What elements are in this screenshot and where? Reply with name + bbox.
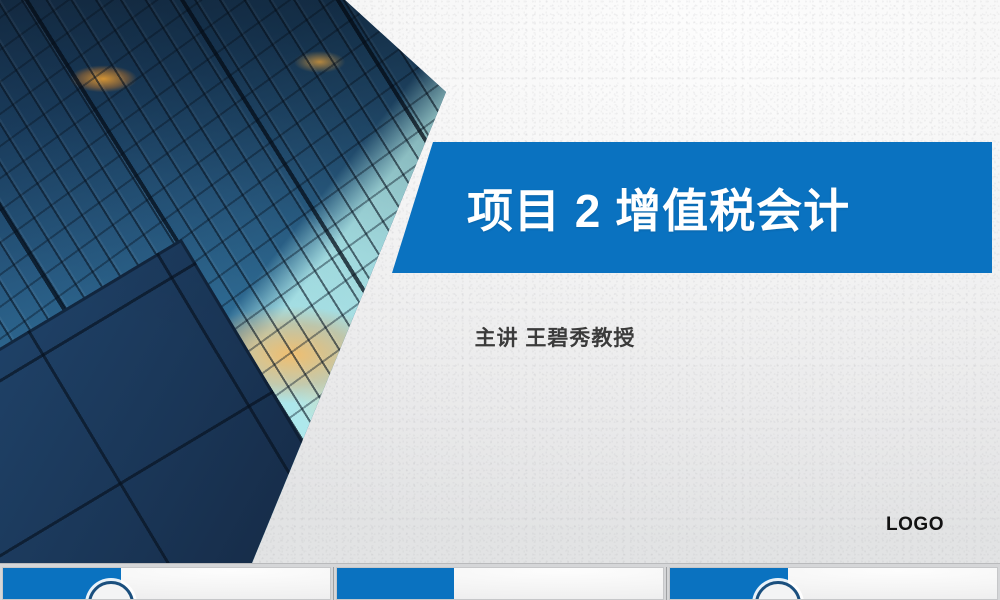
thumbnail-slide-1[interactable] [2, 567, 331, 600]
title-banner: 项目 2 增值税会计 [392, 142, 992, 273]
page-title: 项目 2 增值税会计 [467, 175, 850, 241]
filmstrip-divider [333, 567, 334, 600]
thumbnail-accent-square [337, 568, 455, 599]
thumbnail-slide-3[interactable] [669, 567, 998, 600]
slide-canvas: 项目 2 增值税会计 主讲 王碧秀教授 LOGO [0, 0, 1000, 563]
photo-vignette [0, 0, 470, 563]
presenter-subtitle: 主讲 王碧秀教授 [0, 322, 1000, 352]
slide-filmstrip[interactable] [0, 563, 1000, 600]
logo-placeholder: LOGO [886, 514, 944, 536]
slide-root: 项目 2 增值税会计 主讲 王碧秀教授 LOGO [0, 0, 1000, 600]
thumbnail-slide-2[interactable] [336, 567, 665, 600]
filmstrip-divider [666, 567, 667, 600]
skyscraper-photo [0, 0, 470, 563]
hero-photo-panel [0, 0, 470, 563]
